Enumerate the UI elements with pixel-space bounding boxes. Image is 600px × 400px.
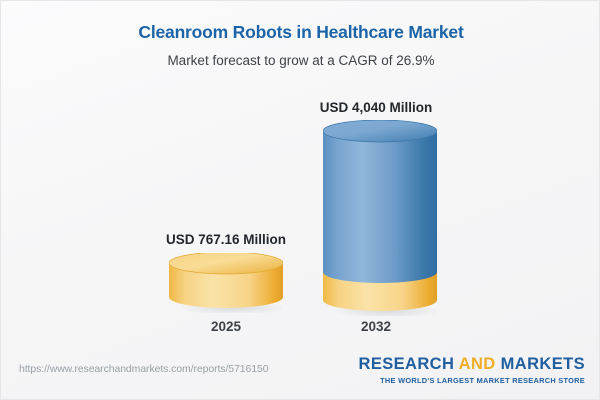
logo-word-research: RESEARCH bbox=[359, 355, 459, 373]
logo-word-markets: MARKETS bbox=[496, 355, 585, 373]
logo-word-and: AND bbox=[459, 355, 496, 373]
chart-plot-area: USD 767.16 Million bbox=[1, 1, 600, 349]
bar-value-label-2025: USD 767.16 Million bbox=[116, 232, 336, 247]
bar-category-label-2032: 2032 bbox=[266, 319, 486, 334]
bar-cylinder-2032[interactable] bbox=[323, 120, 437, 316]
logo-tagline: THE WORLD'S LARGEST MARKET RESEARCH STOR… bbox=[359, 376, 586, 385]
logo-wordmark: RESEARCH AND MARKETS bbox=[359, 355, 586, 374]
bar-value-label-2032: USD 4,040 Million bbox=[266, 100, 486, 115]
research-and-markets-logo[interactable]: RESEARCH AND MARKETS THE WORLD'S LARGEST… bbox=[359, 355, 586, 385]
infographic-card: Cleanroom Robots in Healthcare Market Ma… bbox=[0, 0, 600, 400]
bar-cylinder-2025[interactable] bbox=[169, 253, 283, 313]
source-url-link[interactable]: https://www.researchandmarkets.com/repor… bbox=[19, 363, 268, 375]
chart-footer: https://www.researchandmarkets.com/repor… bbox=[1, 347, 600, 399]
